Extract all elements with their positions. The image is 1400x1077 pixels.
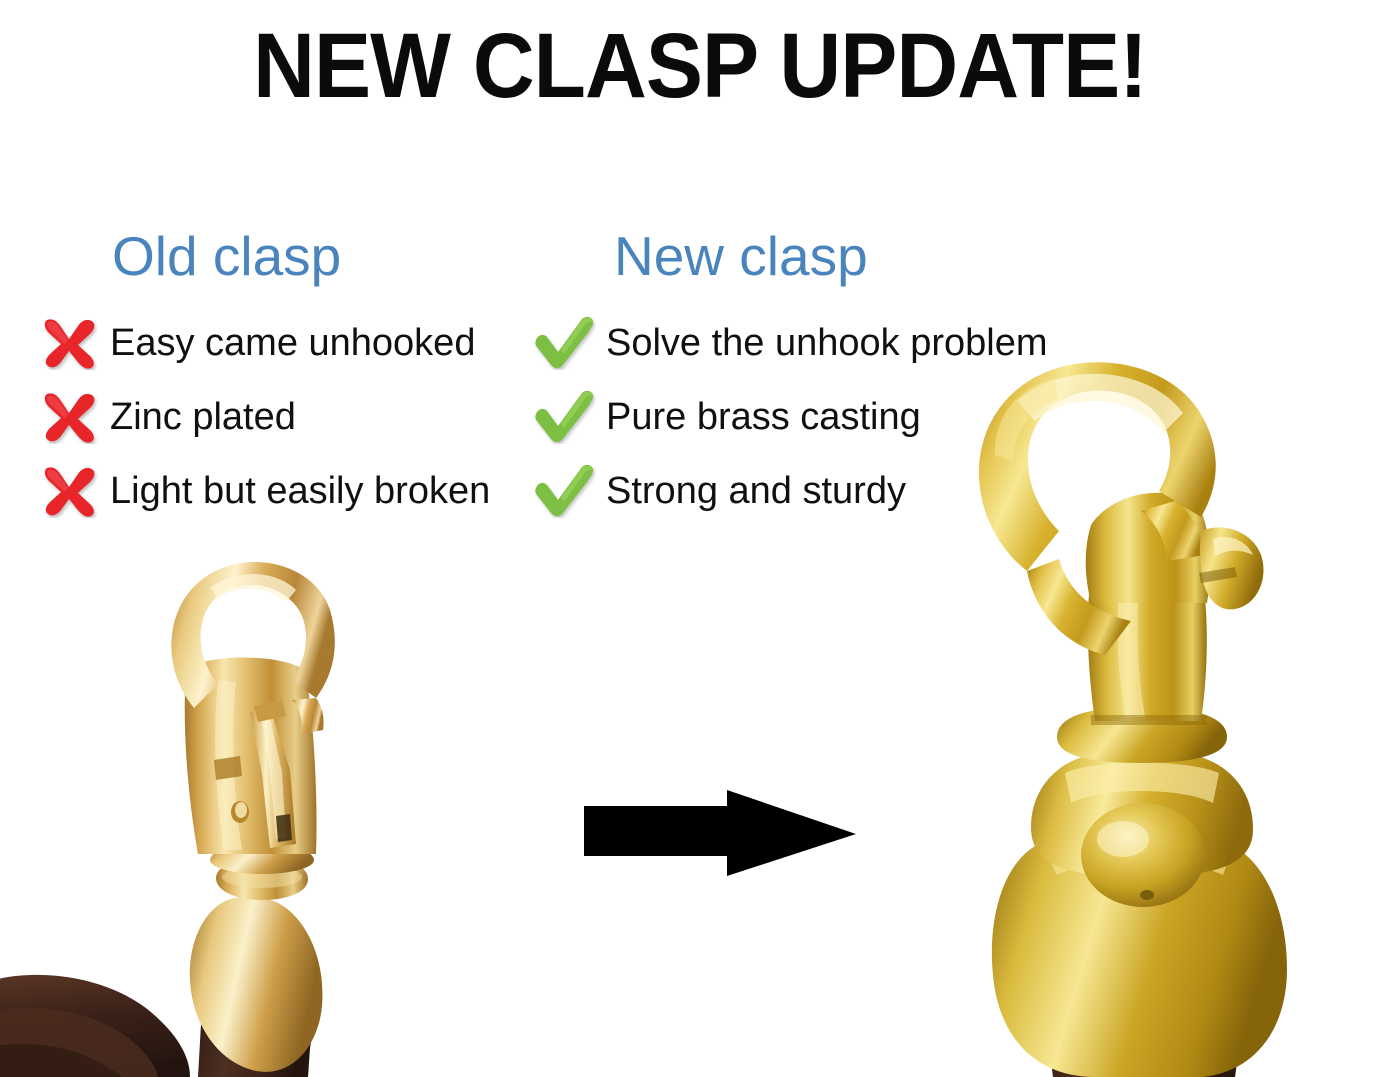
new-clasp-heading: New clasp <box>614 226 868 286</box>
list-item-label: Strong and sturdy <box>596 470 906 512</box>
list-item: Easy came unhooked <box>38 306 538 380</box>
new-clasp-photo <box>935 355 1350 1077</box>
list-item-label: Easy came unhooked <box>100 322 475 364</box>
red-cross-icon <box>38 388 100 446</box>
leather-strap-coil-photo <box>0 955 230 1077</box>
green-check-icon <box>534 388 596 446</box>
list-item: Zinc plated <box>38 380 538 454</box>
list-item: Light but easily broken <box>38 454 538 528</box>
list-item-label: Light but easily broken <box>100 470 490 512</box>
page-title: NEW CLASP UPDATE! <box>49 18 1351 114</box>
list-item-label: Zinc plated <box>100 396 296 438</box>
right-arrow-icon <box>580 788 860 878</box>
old-clasp-feature-list: Easy came unhooked Zinc plated <box>38 306 538 528</box>
list-item-label: Pure brass casting <box>596 396 921 438</box>
red-cross-icon <box>38 462 100 520</box>
green-check-icon <box>534 314 596 372</box>
green-check-icon <box>534 462 596 520</box>
old-clasp-heading: Old clasp <box>112 226 341 286</box>
red-cross-icon <box>38 314 100 372</box>
infographic-canvas: NEW CLASP UPDATE! Old clasp New clasp <box>0 0 1400 1077</box>
